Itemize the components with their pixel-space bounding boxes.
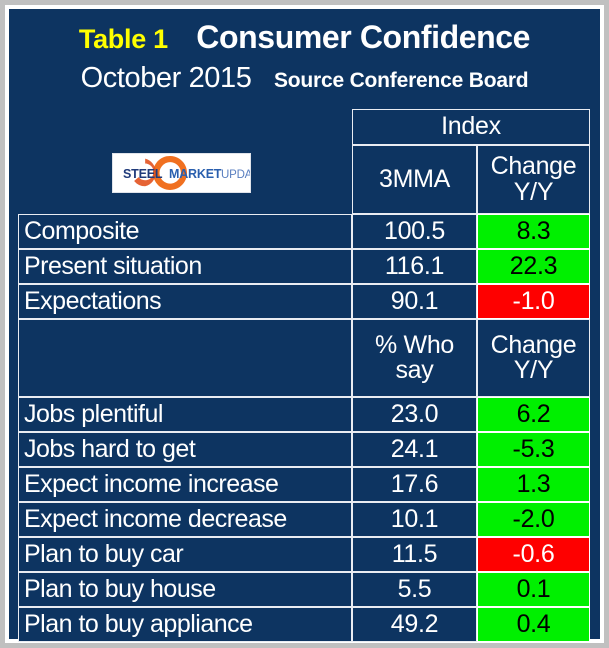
table-row-change: -2.0 bbox=[477, 502, 590, 537]
column-header-3mma: 3MMA bbox=[352, 145, 477, 214]
column-header-change-yy-line2: Y/Y bbox=[514, 180, 553, 206]
table-row-value: 11.5 bbox=[352, 537, 477, 572]
table-row-value: 23.0 bbox=[352, 397, 477, 432]
table-row-label: Jobs hard to get bbox=[18, 432, 352, 467]
table-row-change: -5.3 bbox=[477, 432, 590, 467]
table-row-change: 8.3 bbox=[477, 214, 590, 249]
column-header-percent-who-say: % Whosay bbox=[352, 319, 477, 397]
table-row-label: Plan to buy car bbox=[18, 537, 352, 572]
column-header-change-yy-2: ChangeY/Y bbox=[477, 319, 590, 397]
table-row-value: 49.2 bbox=[352, 607, 477, 642]
slide-panel: Table 1 Consumer Confidence October 2015… bbox=[9, 9, 600, 639]
table-row-label: Present situation bbox=[18, 249, 352, 284]
table-row-label: Expect income increase bbox=[18, 467, 352, 502]
table-row-label: Plan to buy house bbox=[18, 572, 352, 607]
table-row-change: -0.6 bbox=[477, 537, 590, 572]
table-row-change: 0.4 bbox=[477, 607, 590, 642]
column-header-change-yy-2-line2: Y/Y bbox=[514, 358, 553, 384]
table-row-label: Plan to buy appliance bbox=[18, 607, 352, 642]
table-row-value: 100.5 bbox=[352, 214, 477, 249]
group-header-spacer bbox=[18, 319, 352, 397]
column-header-change-yy: ChangeY/Y bbox=[477, 145, 590, 214]
table-row-label: Expect income decrease bbox=[18, 502, 352, 537]
table-row-change: 0.1 bbox=[477, 572, 590, 607]
table-row-value: 90.1 bbox=[352, 284, 477, 319]
table-row-change: 1.3 bbox=[477, 467, 590, 502]
group-header-index: Index bbox=[352, 109, 590, 145]
table-row-value: 116.1 bbox=[352, 249, 477, 284]
table-row-value: 24.1 bbox=[352, 432, 477, 467]
table-row-label: Expectations bbox=[18, 284, 352, 319]
table-row-change: 6.2 bbox=[477, 397, 590, 432]
data-table: Index3MMAChangeY/YComposite100.58.3Prese… bbox=[9, 9, 600, 639]
table-row-value: 17.6 bbox=[352, 467, 477, 502]
table-row-change: -1.0 bbox=[477, 284, 590, 319]
table-row-value: 5.5 bbox=[352, 572, 477, 607]
slide-frame: Table 1 Consumer Confidence October 2015… bbox=[5, 5, 604, 643]
table-row-label: Composite bbox=[18, 214, 352, 249]
table-row-value: 10.1 bbox=[352, 502, 477, 537]
table-row-label: Jobs plentiful bbox=[18, 397, 352, 432]
table-row-change: 22.3 bbox=[477, 249, 590, 284]
column-header-percent-who-say-line2: say bbox=[395, 358, 433, 384]
